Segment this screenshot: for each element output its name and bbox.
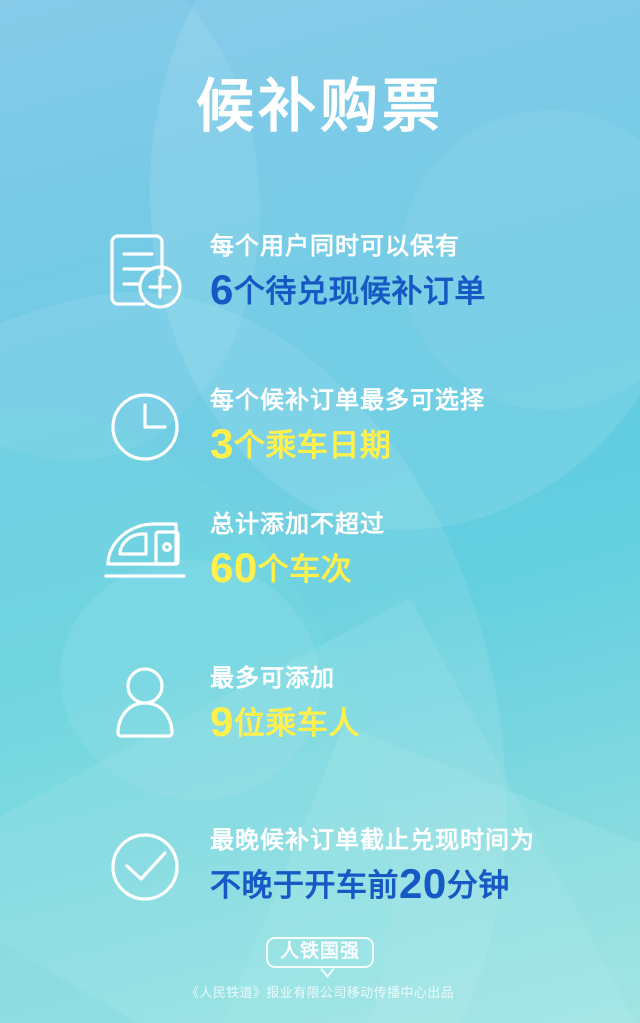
fact-list: 每个用户同时可以保有 6个待兑现候补订单 每个候补订单最多可选择 3个乘车日期 bbox=[0, 214, 640, 926]
list-item-value: 不晚于开车前20分钟 bbox=[210, 860, 535, 908]
list-item-value: 6个待兑现候补订单 bbox=[210, 266, 486, 314]
list-item-text: 最晚候补订单截止兑现时间为 不晚于开车前20分钟 bbox=[210, 826, 535, 908]
list-item-text: 每个用户同时可以保有 6个待兑现候补订单 bbox=[210, 232, 486, 314]
document-plus-icon bbox=[98, 232, 192, 314]
list-item-number: 9 bbox=[210, 698, 234, 745]
list-item: 每个用户同时可以保有 6个待兑现候补订单 bbox=[0, 214, 640, 332]
list-item-unit: 位乘车人 bbox=[234, 706, 360, 741]
brand-logo: 人铁国强 bbox=[266, 937, 374, 968]
list-item: 总计添加不超过 60个车次 bbox=[0, 492, 640, 610]
list-item-number: 3 bbox=[210, 420, 234, 467]
check-circle-icon bbox=[98, 829, 192, 905]
list-item-caption: 总计添加不超过 bbox=[210, 510, 385, 540]
footer-credit: 《人民铁道》报业有限公司移动传播中心出品 bbox=[0, 982, 640, 1001]
list-item-caption: 每个用户同时可以保有 bbox=[210, 232, 486, 262]
clock-icon bbox=[98, 389, 192, 465]
list-item-value: 60个车次 bbox=[210, 544, 385, 592]
list-item-text: 总计添加不超过 60个车次 bbox=[210, 510, 385, 592]
list-item-unit: 分钟 bbox=[447, 868, 510, 903]
list-item-caption: 最晚候补订单截止兑现时间为 bbox=[210, 826, 535, 856]
infographic-poster: 候补购票 每个用户同时可以保有 6个待兑现候补订单 bbox=[0, 0, 640, 1023]
list-item: 每个候补订单最多可选择 3个乘车日期 bbox=[0, 368, 640, 486]
footer: 人铁国强 《人民铁道》报业有限公司移动传播中心出品 bbox=[0, 937, 640, 1001]
list-item-number: 60 bbox=[210, 544, 258, 591]
list-item-prefix: 不晚于开车前 bbox=[210, 868, 399, 903]
list-item-unit: 个待兑现候补订单 bbox=[234, 274, 486, 309]
person-icon bbox=[98, 665, 192, 745]
list-item: 最晚候补订单截止兑现时间为 不晚于开车前20分钟 bbox=[0, 808, 640, 926]
list-item-value: 9位乘车人 bbox=[210, 698, 360, 746]
list-item-value: 3个乘车日期 bbox=[210, 420, 485, 468]
train-icon bbox=[98, 514, 192, 588]
list-item: 最多可添加 9位乘车人 bbox=[0, 646, 640, 764]
list-item-text: 每个候补订单最多可选择 3个乘车日期 bbox=[210, 386, 485, 468]
list-item-caption: 最多可添加 bbox=[210, 664, 360, 694]
list-item-unit: 个乘车日期 bbox=[234, 428, 392, 463]
list-item-unit: 个车次 bbox=[258, 552, 353, 587]
list-item-text: 最多可添加 9位乘车人 bbox=[210, 664, 360, 746]
page-title: 候补购票 bbox=[0, 78, 640, 136]
list-item-number: 6 bbox=[210, 266, 234, 313]
list-item-number: 20 bbox=[399, 860, 447, 907]
list-item-caption: 每个候补订单最多可选择 bbox=[210, 386, 485, 416]
